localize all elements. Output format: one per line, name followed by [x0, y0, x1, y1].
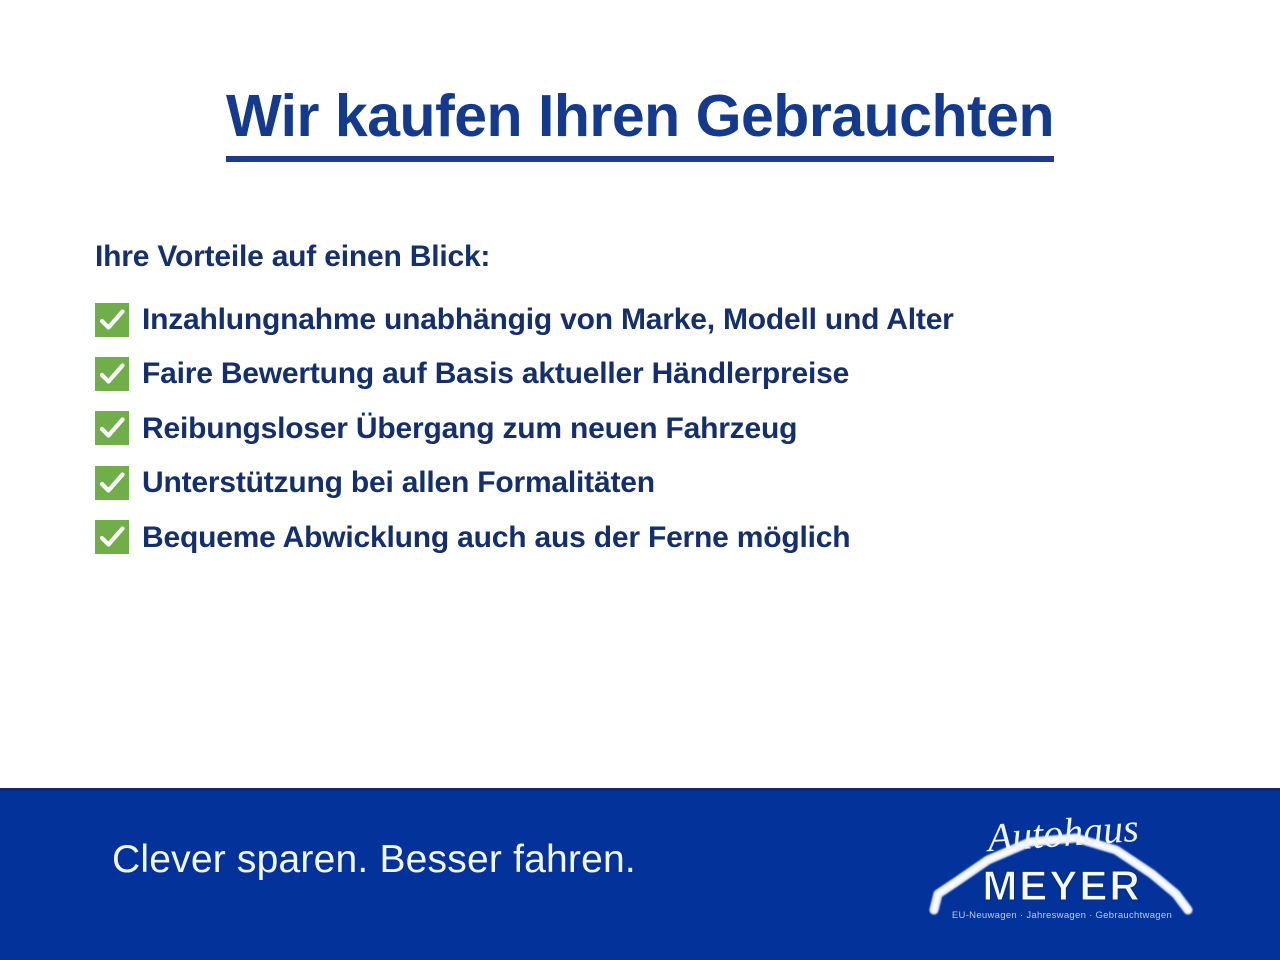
advantage-label: Unterstützung bei allen Formalitäten [142, 465, 655, 500]
advantage-label: Faire Bewertung auf Basis aktueller Händ… [142, 356, 849, 391]
dealer-logo: Autohaus MEYER EU-Neuwagen · Jahreswagen… [926, 798, 1198, 930]
footer-banner: Clever sparen. Besser fahren. Autohaus M… [0, 788, 1280, 960]
advantage-label: Reibungsloser Übergang zum neuen Fahrzeu… [142, 411, 797, 446]
list-item: Inzahlungnahme unabhängig von Marke, Mod… [95, 302, 1215, 337]
page-title: Wir kaufen Ihren Gebrauchten [226, 86, 1054, 162]
footer-slogan: Clever sparen. Besser fahren. [112, 838, 636, 882]
advantages-list: Inzahlungnahme unabhängig von Marke, Mod… [95, 302, 1215, 555]
list-item: Bequeme Abwicklung auch aus der Ferne mö… [95, 520, 1215, 555]
section-subheading: Ihre Vorteile auf einen Blick: [95, 240, 1215, 274]
green-check-box-icon [95, 357, 129, 391]
advantage-label: Inzahlungnahme unabhängig von Marke, Mod… [142, 302, 954, 337]
list-item: Unterstützung bei allen Formalitäten [95, 465, 1215, 500]
list-item: Reibungsloser Übergang zum neuen Fahrzeu… [95, 411, 1215, 446]
advantages-section: Ihre Vorteile auf einen Blick: Inzahlung… [95, 240, 1215, 574]
green-check-box-icon [95, 466, 129, 500]
svg-text:MEYER: MEYER [982, 862, 1141, 909]
green-check-box-icon [95, 411, 129, 445]
green-check-box-icon [95, 520, 129, 554]
green-check-box-icon [95, 303, 129, 337]
page-title-container: Wir kaufen Ihren Gebrauchten [0, 86, 1280, 162]
list-item: Faire Bewertung auf Basis aktueller Händ… [95, 356, 1215, 391]
promo-flyer: Wir kaufen Ihren Gebrauchten Ihre Vortei… [0, 0, 1280, 960]
advantage-label: Bequeme Abwicklung auch aus der Ferne mö… [142, 520, 850, 555]
footer-top-divider [0, 788, 1280, 791]
svg-text:EU-Neuwagen · Jahreswagen ·: EU-Neuwagen · Jahreswagen · Gebrauchtwag… [952, 910, 1172, 921]
